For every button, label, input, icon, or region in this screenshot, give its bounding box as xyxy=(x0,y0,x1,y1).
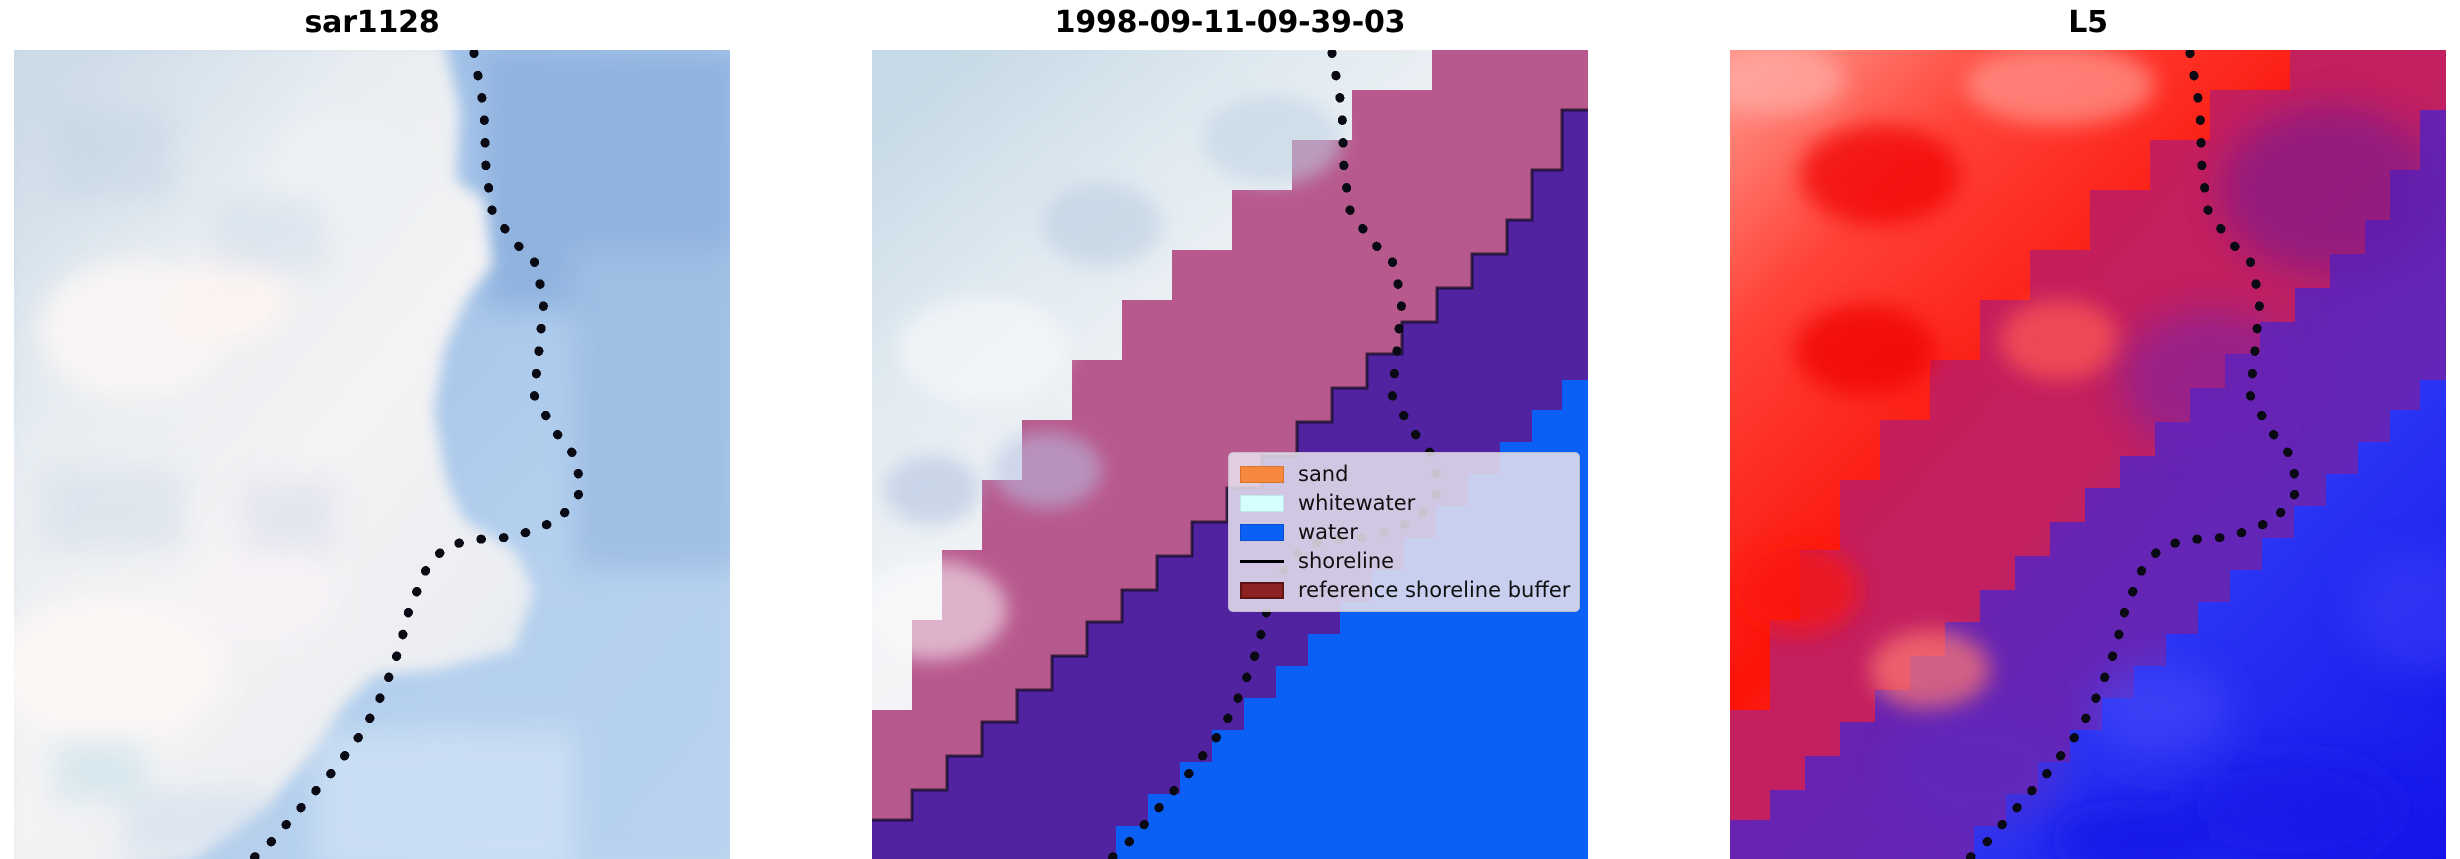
satellite-image-rgb xyxy=(14,50,730,859)
legend-label-reference-shoreline-buffer: reference shoreline buffer xyxy=(1298,580,1570,601)
figure-canvas: sar1128 xyxy=(0,0,2460,859)
panel-l5[interactable] xyxy=(1730,50,2446,859)
panel-title-sar1128: sar1128 xyxy=(14,6,730,40)
whitewater-color-swatch xyxy=(1240,495,1284,512)
reference-shoreline-buffer-color-swatch xyxy=(1240,582,1284,599)
panel-title-l5: L5 xyxy=(1730,6,2446,40)
shoreline-line-sample xyxy=(1240,553,1284,570)
panel-title-classification: 1998-09-11-09-39-03 xyxy=(872,6,1588,40)
legend-label-sand: sand xyxy=(1298,464,1348,485)
legend[interactable]: sand whitewater water shoreline referenc… xyxy=(1228,452,1580,612)
panel-sar1128[interactable] xyxy=(14,50,730,859)
sand-color-swatch xyxy=(1240,466,1284,483)
legend-item-reference-shoreline-buffer[interactable]: reference shoreline buffer xyxy=(1240,576,1570,604)
legend-item-water[interactable]: water xyxy=(1240,518,1570,546)
legend-item-whitewater[interactable]: whitewater xyxy=(1240,489,1570,517)
panel-classification[interactable]: sand whitewater water shoreline referenc… xyxy=(872,50,1588,859)
legend-label-whitewater: whitewater xyxy=(1298,493,1415,514)
legend-label-shoreline: shoreline xyxy=(1298,551,1394,572)
false-colour-image xyxy=(1730,50,2446,859)
water-color-swatch xyxy=(1240,524,1284,541)
legend-label-water: water xyxy=(1298,522,1358,543)
legend-item-sand[interactable]: sand xyxy=(1240,460,1570,488)
legend-item-shoreline[interactable]: shoreline xyxy=(1240,547,1570,575)
